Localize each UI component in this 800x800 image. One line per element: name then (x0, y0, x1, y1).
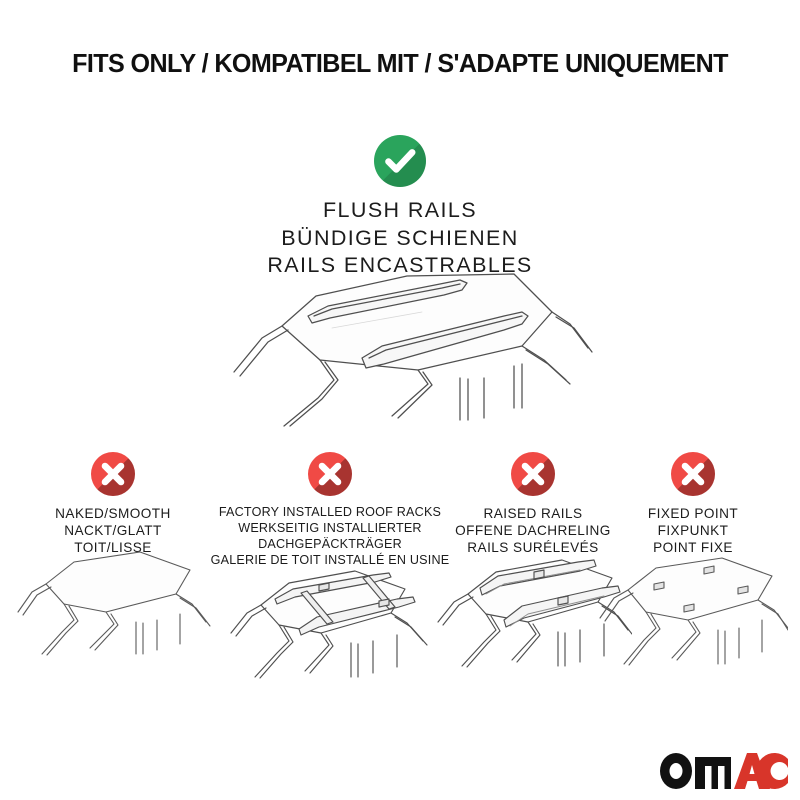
car-roof-naked-smooth-illustration (14, 544, 212, 664)
car-roof-fixed-point-illustration (598, 544, 788, 672)
page-title: FITS ONLY / KOMPATIBEL MIT / S'ADAPTE UN… (6, 52, 794, 78)
logo-letter-o (660, 753, 692, 789)
caption-line-2: FIXPUNKT (614, 522, 772, 539)
caption-line-1: NAKED/SMOOTH (13, 505, 213, 522)
caption-line-3: DACHGEPÄCKTRÄGER (205, 537, 455, 553)
compatibility-infographic: FITS ONLY / KOMPATIBEL MIT / S'ADAPTE UN… (0, 0, 800, 800)
car-roof-factory-roof-racks-illustration (223, 557, 437, 687)
header: FITS ONLY / KOMPATIBEL MIT / S'ADAPTE UN… (0, 52, 800, 78)
incompatible-section: NAKED/SMOOTH NACKT/GLATT TOIT/LISSE (0, 452, 800, 702)
car-roof-flush-rails-illustration (222, 268, 602, 428)
caption-line-1: RAISED RAILS (440, 505, 626, 522)
caption-line-1: FACTORY INSTALLED ROOF RACKS (205, 505, 455, 521)
x-circle-icon (308, 452, 352, 496)
incompatible-item-raised-rails: RAISED RAILS OFFENE DACHRELING RAILS SUR… (440, 452, 626, 556)
caption-line-2: WERKSEITIG INSTALLIERTER (205, 521, 455, 537)
compatible-section: FLUSH RAILS BÜNDIGE SCHIENEN RAILS ENCAS… (0, 135, 800, 280)
caption-line-2: OFFENE DACHRELING (440, 522, 626, 539)
x-circle-icon (671, 452, 715, 496)
x-circle-icon (91, 452, 135, 496)
incompatible-item-naked-smooth: NAKED/SMOOTH NACKT/GLATT TOIT/LISSE (13, 452, 213, 556)
compatible-caption-line-2: BÜNDIGE SCHIENEN (0, 225, 800, 253)
incompatible-item-factory-roof-racks: FACTORY INSTALLED ROOF RACKS WERKSEITIG … (205, 452, 455, 568)
logo-letter-m (695, 757, 731, 789)
check-circle-icon (374, 135, 426, 187)
incompatible-item-fixed-point: FIXED POINT FIXPUNKT POINT FIXE (614, 452, 772, 556)
caption-line-2: NACKT/GLATT (13, 522, 213, 539)
compatible-caption-line-1: FLUSH RAILS (0, 197, 800, 225)
omac-logo: OMAC (658, 750, 788, 790)
x-circle-icon (511, 452, 555, 496)
caption-line-1: FIXED POINT (614, 505, 772, 522)
